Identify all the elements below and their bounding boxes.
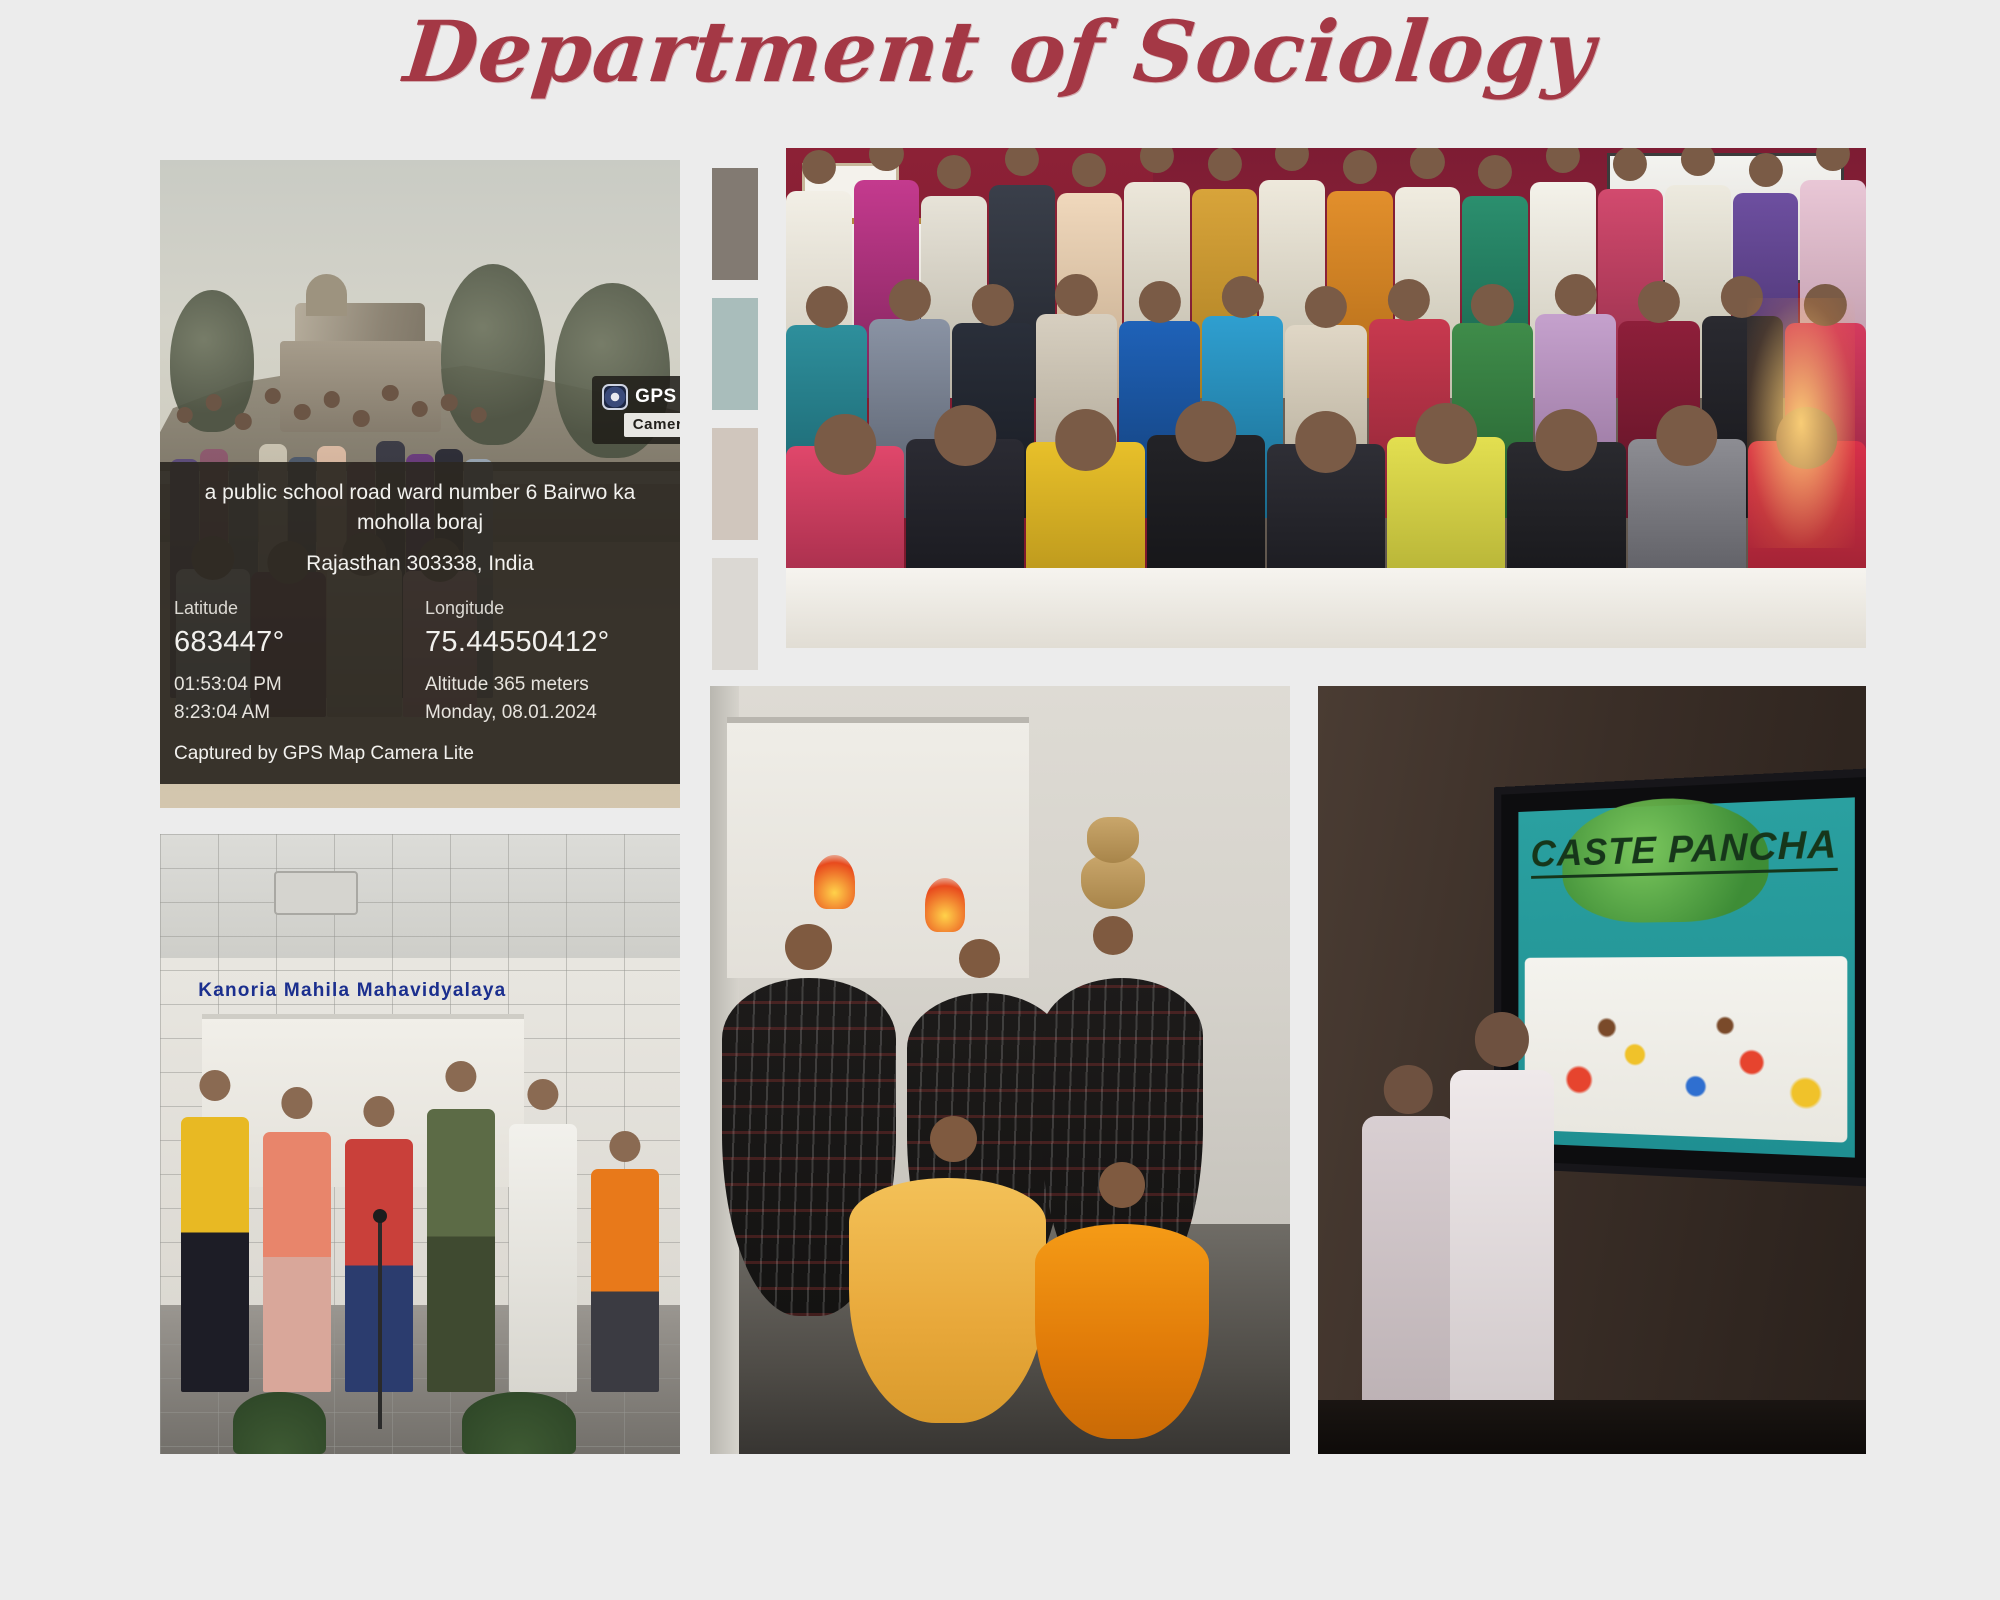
gmt-time: 8:23:04 AM [174, 699, 415, 727]
dancer-head [785, 924, 831, 970]
gps-map-camera-badge: GPS Map Camera [592, 376, 680, 444]
badge-subtitle: Camera [624, 413, 680, 437]
performer [263, 1132, 331, 1392]
dancer-head [959, 939, 1000, 977]
college-banner-text: Kanoria Mahila Mahavidyalaya [198, 980, 506, 1002]
local-time: 01:53:04 PM [174, 671, 415, 699]
fire-prop [814, 855, 855, 909]
dancer-head [1093, 916, 1134, 954]
dancer-skirt [1035, 1224, 1209, 1439]
poster-canvas: Department of Sociology [0, 0, 2000, 1600]
fire-prop [925, 878, 966, 932]
dancer-head [930, 1116, 976, 1162]
balanced-pot [1081, 855, 1145, 909]
balanced-pot [1087, 817, 1139, 863]
page-title: Department of Sociology [0, 8, 2000, 96]
college-banner: Kanoria Mahila Mahavidyalaya [191, 970, 513, 1010]
dancer-head [1099, 1162, 1145, 1208]
page-title-text: Department of Sociology [401, 8, 1600, 96]
gps-address-line-1: a public school road ward number 6 Bairw… [160, 478, 680, 549]
gps-coordinate-grid: Latitude 683447° 01:53:04 PM 8:23:04 AM … [160, 589, 680, 726]
fort-field-visit-photo[interactable]: GPS Map Camera a public school road ward… [160, 160, 680, 808]
swatch-warm-gray[interactable] [712, 168, 758, 280]
stage-fashion-show-photo[interactable]: Kanoria Mahila Mahavidyalaya [160, 834, 680, 1454]
potted-plant [462, 1392, 576, 1454]
front-table [786, 568, 1866, 648]
performer [427, 1109, 495, 1392]
performer-lineup [181, 1020, 659, 1392]
rajasthani-folk-dance-photo[interactable] [710, 686, 1290, 1454]
performer [591, 1169, 659, 1392]
foreground-counter [1318, 1400, 1866, 1454]
color-swatch-strip [712, 168, 758, 688]
microphone-stand [378, 1218, 382, 1429]
swatch-warm-beige[interactable] [712, 428, 758, 540]
latitude-label: Latitude [174, 595, 415, 621]
gps-address-line-2: Rajasthan 303338, India [160, 549, 680, 589]
performer [509, 1124, 577, 1392]
performer [181, 1117, 249, 1392]
ceiling-projector [274, 871, 357, 914]
caste-panchayat-presentation-photo[interactable]: CASTE PANCHA [1318, 686, 1866, 1454]
latitude-value: 683447° [174, 621, 415, 663]
badge-title: GPS Map [635, 383, 680, 411]
presentation-slide: CASTE PANCHA [1519, 798, 1855, 1158]
captured-by-label: Captured by GPS Map Camera Lite [160, 726, 680, 768]
swatch-sage-blue[interactable] [712, 298, 758, 410]
latitude-block: Latitude 683447° 01:53:04 PM 8:23:04 AM [174, 595, 415, 726]
swatch-light-gray[interactable] [712, 558, 758, 670]
badge-row: GPS Map [602, 383, 680, 411]
longitude-block: Longitude 75.44550412° Altitude 365 mete… [425, 595, 666, 726]
capture-date: Monday, 08.01.2024 [425, 699, 666, 727]
dancer-skirt [849, 1178, 1046, 1424]
ceiling-region [160, 834, 680, 958]
longitude-value: 75.44550412° [425, 621, 666, 663]
tree [441, 264, 545, 445]
altitude-value: Altitude 365 meters [425, 671, 666, 699]
departmental-group-photo[interactable]: KANORIA PG MAHILA MAHAVIDYALAYA, JAIPUR [786, 148, 1866, 648]
gps-stamp-overlay: GPS Map Camera a public school road ward… [160, 462, 680, 784]
light-flare [1747, 298, 1855, 548]
gps-camera-icon [602, 384, 628, 410]
slide-crowd-illustration [1525, 956, 1848, 1143]
longitude-label: Longitude [425, 595, 666, 621]
potted-plant [233, 1392, 327, 1454]
presenter [1450, 1070, 1554, 1454]
